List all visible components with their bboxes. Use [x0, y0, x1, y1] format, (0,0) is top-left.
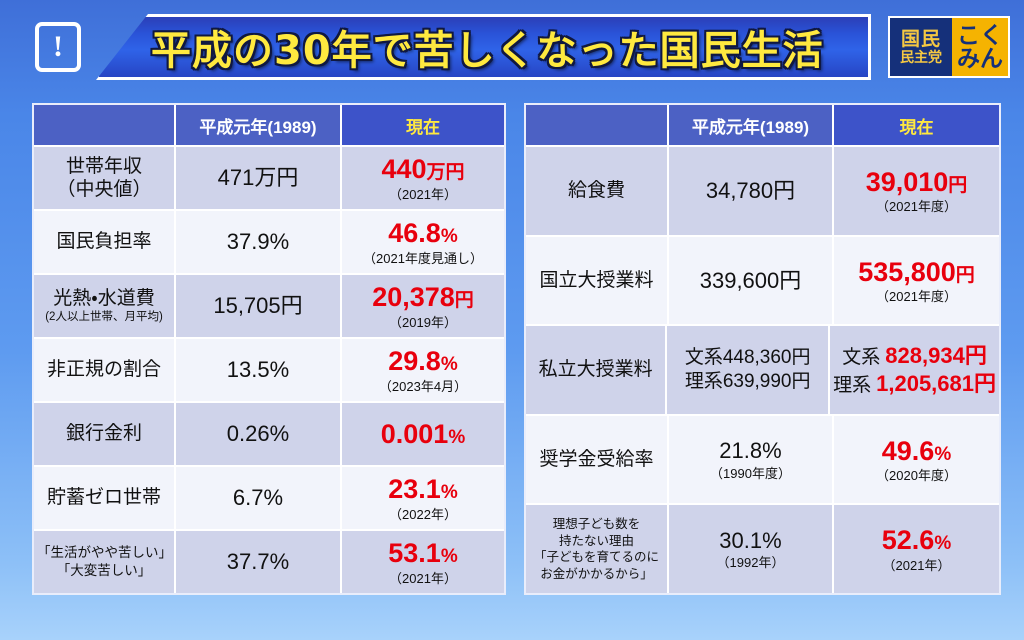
new-value-unit: %	[441, 354, 458, 375]
row-new-value: 53.1% （2021年）	[342, 531, 504, 593]
logo-kokumin-kanji: 国民	[901, 29, 941, 50]
new-value-note: （2021年）	[389, 571, 457, 587]
row-label: 奨学金受給率	[526, 416, 669, 504]
row-label: 国民負担率	[34, 211, 176, 273]
new-value-unit: %	[934, 444, 951, 465]
comparison-table-left: 平成元年(1989) 現在 世帯年収 （中央値） 471万円 440万円 （20…	[32, 103, 506, 595]
new-value-number2: 1,205,681円	[876, 370, 996, 398]
row-old-value: 21.8% （1990年度）	[669, 416, 834, 504]
old-value-text: 15,705円	[213, 292, 302, 320]
row-label: 理想子ども数を 持たない理由 「子どもを育てるのに お金がかかるから」	[526, 505, 669, 593]
new-value-number: 46.8	[388, 218, 441, 248]
row-label: 光熱・水道費 (2人以上世帯、月平均)	[34, 275, 176, 337]
new-value-number: 20,378	[372, 282, 455, 312]
new-value-note: （2021年度）	[876, 199, 957, 215]
new-value-number1: 828,934円	[885, 342, 987, 370]
row-old-value: 471万円	[176, 147, 342, 209]
table-left-header-row: 平成元年(1989) 現在	[34, 105, 504, 145]
comparison-table-right: 平成元年(1989) 現在 給食費 34,780円 39,010円 （2021年…	[524, 103, 1001, 595]
new-value-text: 23.1%	[388, 473, 457, 505]
new-value-number: 440	[381, 154, 426, 184]
logo-koku-kana: こく	[957, 24, 1003, 47]
new-value-text: 0.001%	[381, 418, 465, 450]
new-value-text: 53.1%	[388, 537, 457, 569]
new-value-unit: %	[934, 533, 951, 554]
logo-kana-mark: こく みん	[952, 18, 1008, 76]
old-value-line2: 理系639,990円	[685, 370, 811, 394]
row-label-line1: 奨学金受給率	[539, 448, 653, 471]
row-old-value: 13.5%	[176, 339, 342, 401]
new-value-text: 52.6%	[882, 524, 951, 556]
row-label-line1: 銀行金利	[66, 422, 142, 445]
new-value-text: 535,800円	[858, 256, 975, 288]
new-value-number: 0.001	[381, 419, 449, 449]
party-logo: 国民 民主党 こく みん	[888, 16, 1010, 78]
row-label-line2: （中央値）	[56, 178, 151, 201]
new-value-text: 46.8%	[388, 217, 457, 249]
row-old-value: 37.9%	[176, 211, 342, 273]
new-value-note: （2019年）	[389, 315, 457, 331]
new-value-unit: 円	[956, 265, 975, 286]
table-row: 銀行金利 0.26% 0.001%	[34, 401, 504, 465]
row-label-sub: (2人以上世帯、月平均)	[45, 311, 163, 325]
row-label-line1: 国民負担率	[56, 230, 151, 253]
new-value-note: （2021年度見通し）	[363, 251, 483, 267]
new-value-prefix1: 文系	[842, 346, 880, 370]
old-value-text: 30.1%	[719, 527, 781, 555]
page-title: 平成の30年で苦しくなった国民生活	[151, 18, 824, 76]
new-value-text: 29.8%	[388, 345, 457, 377]
row-new-value: 49.6% （2020年度）	[834, 416, 999, 504]
row-new-value: 20,378円 （2019年）	[342, 275, 504, 337]
logo-party-name: 国民 民主党	[890, 18, 952, 76]
new-value-line1: 文系 828,934円	[842, 342, 987, 370]
row-label-line1: 貯蓄ゼロ世帯	[47, 486, 161, 509]
row-label-line3: 「子どもを育てるのに	[534, 549, 659, 566]
row-label: 国立大授業料	[526, 237, 669, 325]
new-value-unit: 万円	[427, 162, 465, 183]
new-value-number: 535,800	[858, 257, 956, 287]
logo-min-kana: みん	[957, 47, 1003, 70]
header-cell-current: 現在	[342, 105, 504, 145]
row-old-value: 30.1% （1992年）	[669, 505, 834, 593]
row-old-value: 6.7%	[176, 467, 342, 529]
row-label: 貯蓄ゼロ世帯	[34, 467, 176, 529]
row-label-line1: 光熱・水道費	[53, 287, 154, 310]
new-value-note: （2022年）	[389, 507, 457, 523]
row-label-line1: 私立大授業料	[539, 358, 653, 381]
new-value-note: （2021年度）	[876, 289, 957, 305]
row-label: 世帯年収 （中央値）	[34, 147, 176, 209]
logo-minshuto-kanji: 民主党	[900, 50, 942, 66]
new-value-unit: 円	[948, 175, 967, 196]
row-label-line1: 非正規の割合	[47, 358, 161, 381]
new-value-unit: %	[441, 226, 458, 247]
new-value-number: 52.6	[882, 525, 935, 555]
row-new-value: 39,010円 （2021年度）	[834, 147, 999, 235]
exclamation-glyph: !	[53, 32, 63, 62]
old-value-note: （1990年度）	[710, 466, 791, 482]
row-new-value: 52.6% （2021年）	[834, 505, 999, 593]
row-label-line1: 国立大授業料	[539, 269, 653, 292]
table-row: 世帯年収 （中央値） 471万円 440万円 （2021年）	[34, 145, 504, 209]
new-value-unit: %	[441, 482, 458, 503]
old-value-note: （1992年）	[717, 555, 785, 571]
new-value-prefix2: 理系	[833, 374, 871, 398]
old-value-text: 37.9%	[227, 228, 289, 256]
new-value-unit: %	[441, 546, 458, 567]
row-new-value: 535,800円 （2021年度）	[834, 237, 999, 325]
new-value-number: 23.1	[388, 474, 441, 504]
old-value-text: 37.7%	[227, 548, 289, 576]
table-right-header-row: 平成元年(1989) 現在	[526, 105, 999, 145]
table-row: 国立大授業料 339,600円 535,800円 （2021年度）	[526, 235, 999, 325]
row-label: 私立大授業料	[526, 326, 667, 414]
page-header: ! 平成の30年で苦しくなった国民生活 国民 民主党 こく みん	[0, 0, 1024, 92]
header-cell-category	[526, 105, 669, 145]
row-old-value: 339,600円	[669, 237, 834, 325]
new-value-number: 53.1	[388, 538, 441, 568]
new-value-number: 39,010	[866, 167, 949, 197]
old-value-text: 0.26%	[227, 420, 289, 448]
row-new-value: 0.001%	[342, 403, 504, 465]
row-label: 「生活がやや苦しい」 「大変苦しい」	[34, 531, 176, 593]
table-row: 私立大授業料 文系448,360円 理系639,990円 文系 828,934円…	[526, 324, 999, 414]
row-new-value: 文系 828,934円 理系 1,205,681円	[830, 326, 999, 414]
table-row: 給食費 34,780円 39,010円 （2021年度）	[526, 145, 999, 235]
row-label: 銀行金利	[34, 403, 176, 465]
table-row: 非正規の割合 13.5% 29.8% （2023年4月）	[34, 337, 504, 401]
table-row: 「生活がやや苦しい」 「大変苦しい」 37.7% 53.1% （2021年）	[34, 529, 504, 593]
row-label: 非正規の割合	[34, 339, 176, 401]
new-value-unit: 円	[455, 290, 474, 311]
exclamation-icon: !	[35, 22, 81, 72]
row-label-line2: 持たない理由	[559, 533, 634, 550]
new-value-number: 49.6	[882, 436, 935, 466]
row-label-line1: 「生活がやや苦しい」	[37, 544, 171, 562]
old-value-text: 34,780円	[706, 177, 795, 205]
old-value-text: 13.5%	[227, 356, 289, 384]
row-label-line1: 世帯年収	[66, 155, 142, 178]
table-row: 光熱・水道費 (2人以上世帯、月平均) 15,705円 20,378円 （201…	[34, 273, 504, 337]
row-label-line1: 給食費	[568, 179, 625, 202]
row-new-value: 23.1% （2022年）	[342, 467, 504, 529]
title-banner: 平成の30年で苦しくなった国民生活	[96, 14, 871, 80]
new-value-text: 49.6%	[882, 435, 951, 467]
row-old-value: 0.26%	[176, 403, 342, 465]
old-value-text: 21.8%	[719, 437, 781, 465]
header-cell-category	[34, 105, 176, 145]
row-label-line1: 理想子ども数を	[553, 516, 641, 533]
old-value-text: 339,600円	[700, 267, 802, 295]
old-value-text: 6.7%	[233, 484, 283, 512]
new-value-note: （2020年度）	[876, 468, 957, 484]
row-old-value: 15,705円	[176, 275, 342, 337]
old-value-line1: 文系448,360円	[685, 346, 811, 370]
new-value-note: （2021年）	[883, 558, 951, 574]
table-row: 貯蓄ゼロ世帯 6.7% 23.1% （2022年）	[34, 465, 504, 529]
row-new-value: 29.8% （2023年4月）	[342, 339, 504, 401]
new-value-unit: %	[448, 427, 465, 448]
table-row: 理想子ども数を 持たない理由 「子どもを育てるのに お金がかかるから」 30.1…	[526, 503, 999, 593]
header-cell-heisei1: 平成元年(1989)	[669, 105, 834, 145]
new-value-number: 29.8	[388, 346, 441, 376]
row-label-line4: お金がかかるから」	[540, 566, 653, 583]
new-value-text: 20,378円	[372, 281, 474, 313]
header-cell-current: 現在	[834, 105, 999, 145]
row-new-value: 46.8% （2021年度見通し）	[342, 211, 504, 273]
header-cell-heisei1: 平成元年(1989)	[176, 105, 342, 145]
new-value-text: 440万円	[381, 153, 464, 185]
row-label-line2: 「大変苦しい」	[57, 562, 152, 580]
new-value-text: 39,010円	[866, 166, 968, 198]
row-new-value: 440万円 （2021年）	[342, 147, 504, 209]
row-old-value: 文系448,360円 理系639,990円	[667, 326, 830, 414]
table-row: 国民負担率 37.9% 46.8% （2021年度見通し）	[34, 209, 504, 273]
new-value-note: （2021年）	[389, 187, 457, 203]
old-value-text: 471万円	[218, 164, 299, 192]
new-value-line2: 理系 1,205,681円	[833, 370, 996, 398]
new-value-note: （2023年4月）	[379, 379, 467, 395]
table-row: 奨学金受給率 21.8% （1990年度） 49.6% （2020年度）	[526, 414, 999, 504]
row-old-value: 34,780円	[669, 147, 834, 235]
row-old-value: 37.7%	[176, 531, 342, 593]
row-label: 給食費	[526, 147, 669, 235]
